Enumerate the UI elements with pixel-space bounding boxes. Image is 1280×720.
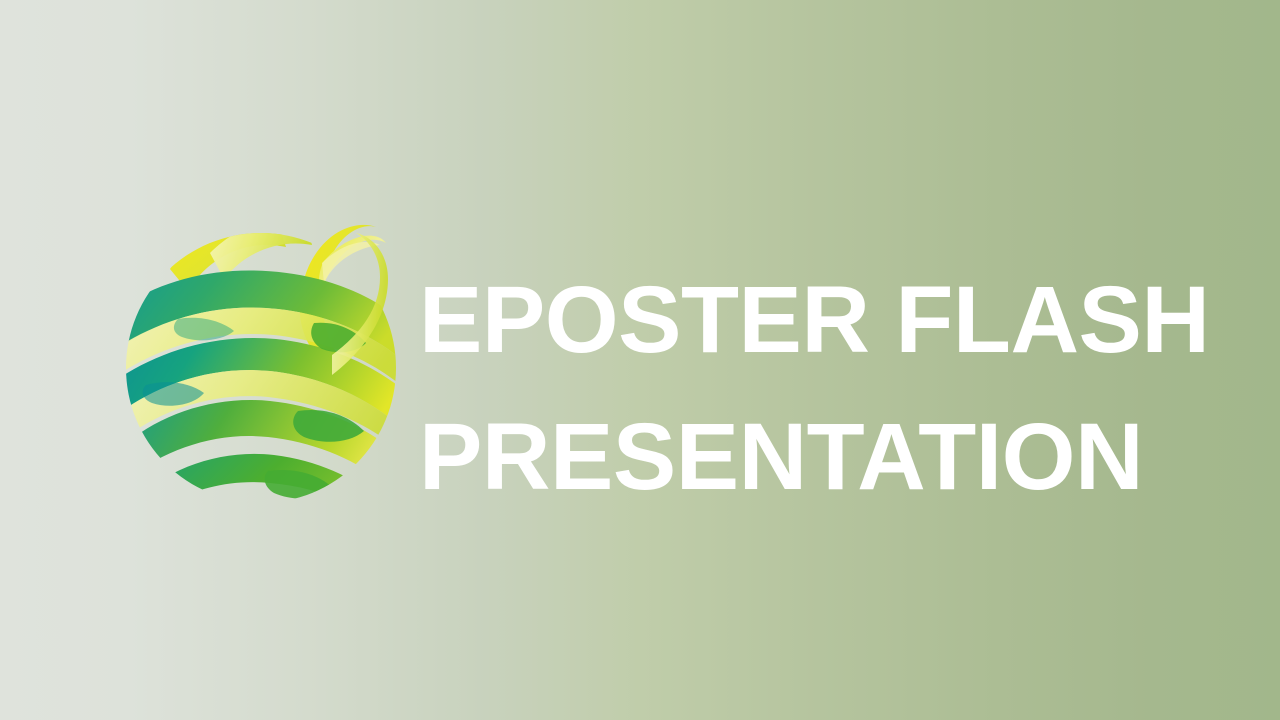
slide-title-block: EPOSTER FLASH PRESENTATION <box>419 252 1219 526</box>
slide-title-line-2: PRESENTATION <box>419 389 1219 526</box>
logo-ribbon-bands <box>118 219 398 513</box>
slide-title-line-1: EPOSTER FLASH <box>419 252 1219 389</box>
ribbon-globe-logo <box>118 203 398 513</box>
presentation-slide: EPOSTER FLASH PRESENTATION <box>0 0 1280 720</box>
